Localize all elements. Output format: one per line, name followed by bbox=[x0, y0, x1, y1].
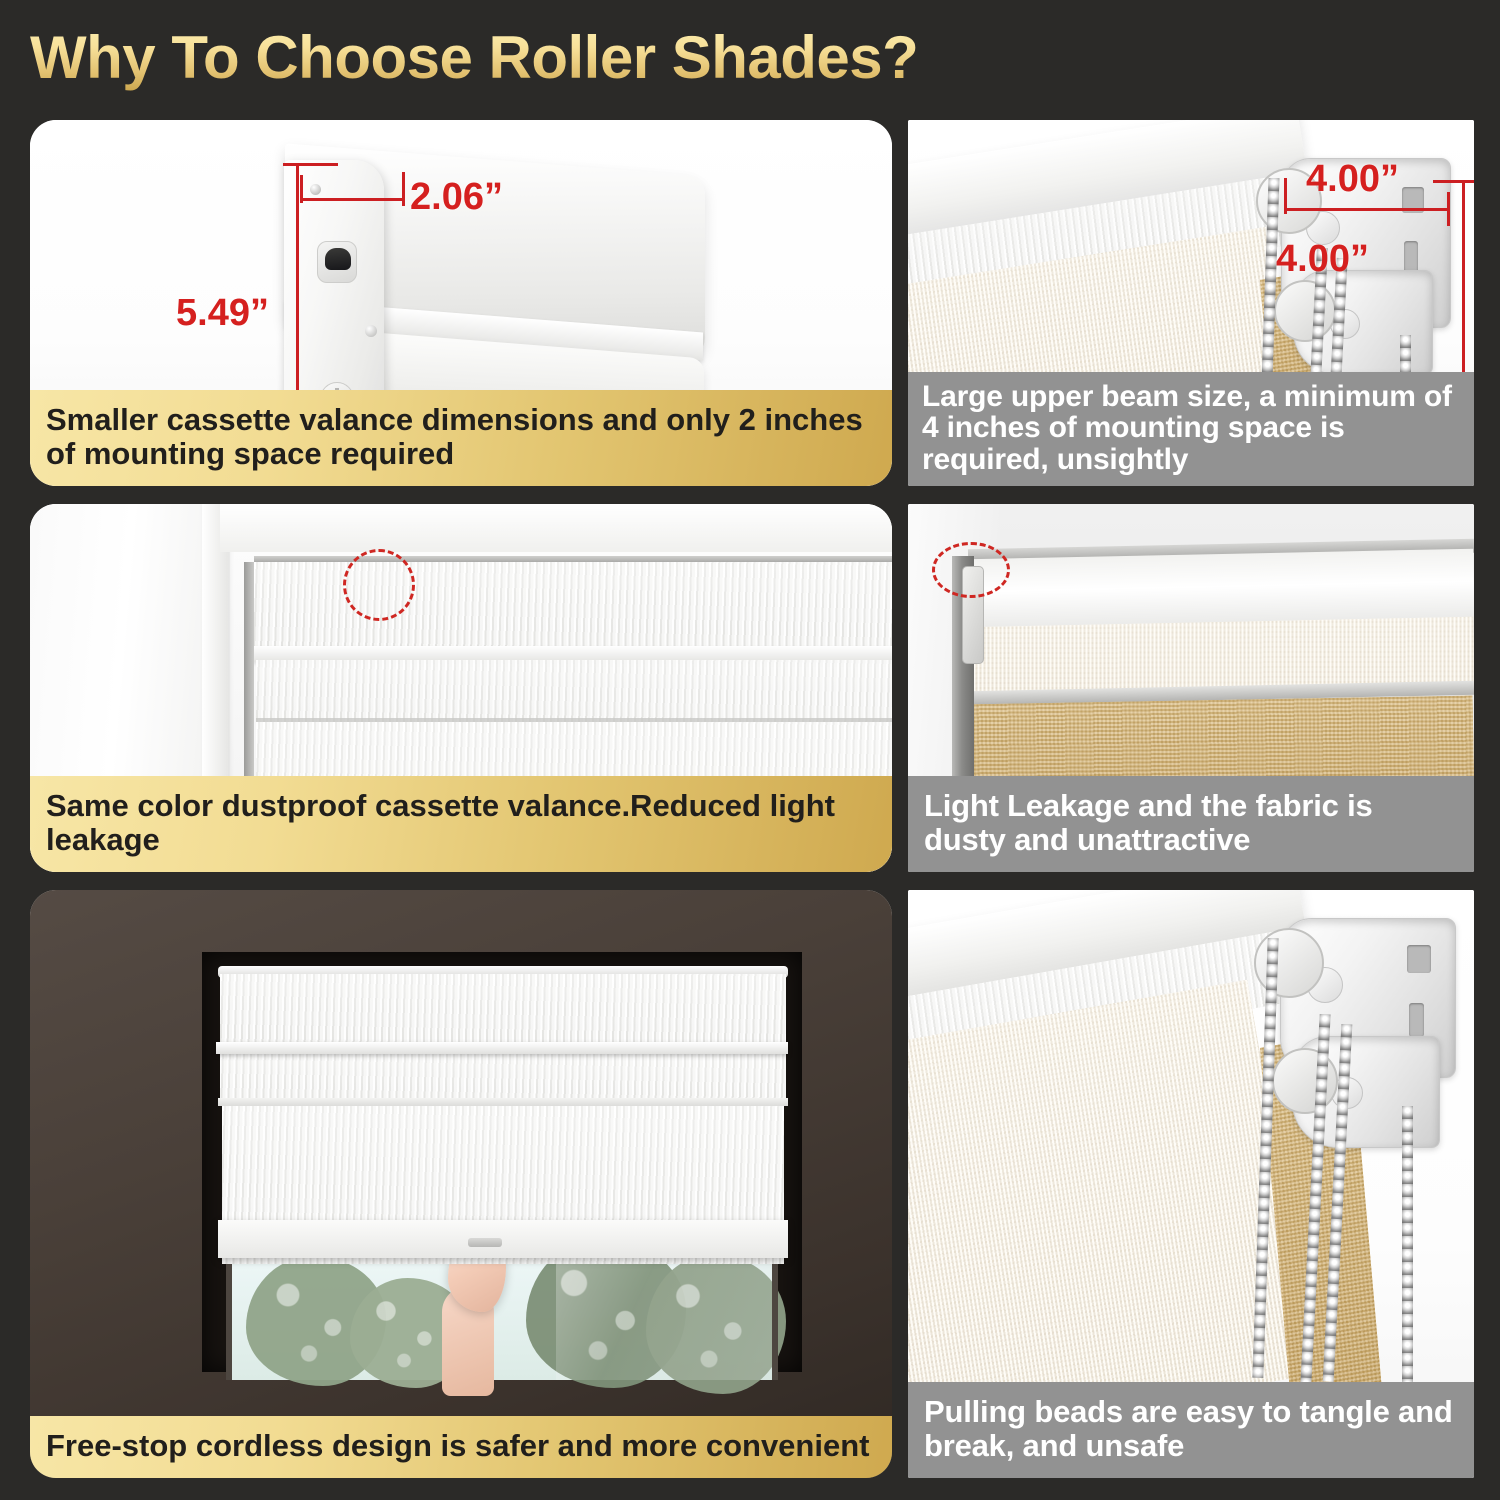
panel-1-caption: Smaller cassette valance dimensions and … bbox=[30, 390, 892, 486]
dim-4-00-v-tick-top bbox=[1433, 180, 1474, 183]
product-photo-smaller-gap: smaller gap Same color dustproof cassett… bbox=[30, 504, 892, 872]
shade-pull-handle bbox=[468, 1238, 502, 1247]
room-valance-lip bbox=[216, 1042, 788, 1054]
panel-cordless-room: Free-stop cordless design is safer and m… bbox=[30, 890, 892, 1478]
room-shade-roll bbox=[220, 1052, 786, 1102]
product-photo-room: Free-stop cordless design is safer and m… bbox=[30, 890, 892, 1478]
gap-highlight-circle bbox=[343, 549, 415, 621]
dim-5-49-tick-top bbox=[283, 163, 338, 166]
panel-pulling-beads: Pulling beads are easy to tangle and bre… bbox=[908, 890, 1474, 1478]
panel-smaller-gap: smaller gap Same color dustproof cassett… bbox=[30, 504, 892, 872]
dim-4-00-h-tick-right bbox=[1447, 192, 1450, 226]
room-valance-face bbox=[220, 974, 786, 1046]
end-cap-clutch-housing bbox=[317, 241, 357, 283]
dim-label-beam-width: 4.00” bbox=[1306, 158, 1399, 201]
panel-large-beam-dimensions: 4.00” 4.00” Large upper beam size, a min… bbox=[908, 120, 1474, 486]
shade-fabric-upper bbox=[256, 660, 892, 726]
panel-2-caption: Large upper beam size, a minimum of 4 in… bbox=[908, 372, 1474, 487]
dim-4-00-h-tick-left bbox=[1284, 178, 1287, 214]
page-title: Why To Choose Roller Shades? bbox=[30, 22, 1130, 94]
panel-large-gap: Large gap Light Leakage and the fabric i… bbox=[908, 504, 1474, 872]
panel-cassette-dimensions: 2.06” 5.49” Smaller cassette valance dim… bbox=[30, 120, 892, 486]
dim-4-00-h-line bbox=[1286, 208, 1450, 211]
panel-5-caption: Free-stop cordless design is safer and m… bbox=[30, 1416, 892, 1478]
beads-tube-cap-upper bbox=[1254, 928, 1324, 998]
dim-label-width: 2.06” bbox=[410, 176, 503, 219]
dim-2-06-tick-left bbox=[300, 175, 303, 203]
clutch-slot bbox=[325, 248, 351, 270]
window-frame-header bbox=[220, 504, 892, 552]
product-photo-large-gap: Large gap Light Leakage and the fabric i… bbox=[908, 504, 1474, 872]
screw-head-top bbox=[310, 184, 321, 195]
tube-end-cap-lower bbox=[1274, 280, 1336, 342]
panel-4-caption: Light Leakage and the fabric is dusty an… bbox=[908, 776, 1474, 872]
dim-4-00-v-line bbox=[1462, 180, 1465, 378]
dim-label-height: 5.49” bbox=[176, 292, 269, 335]
dim-2-06-tick-right bbox=[402, 172, 405, 206]
room-shade-seam bbox=[218, 1098, 788, 1106]
room-shade-bottom-rail bbox=[218, 1220, 788, 1258]
product-photo-cassette: 2.06” 5.49” Smaller cassette valance dim… bbox=[30, 120, 892, 486]
dim-label-beam-height: 4.00” bbox=[1276, 238, 1369, 281]
screw-head bbox=[365, 325, 377, 337]
pull-bead-chain-4[interactable] bbox=[1402, 1106, 1413, 1382]
dim-2-06-line bbox=[302, 198, 405, 201]
gap-highlight-circle-large bbox=[932, 542, 1010, 598]
product-photo-large-beam: 4.00” 4.00” Large upper beam size, a min… bbox=[908, 120, 1474, 486]
panel-6-caption: Pulling beads are easy to tangle and bre… bbox=[908, 1382, 1474, 1478]
panel-3-caption: Same color dustproof cassette valance.Re… bbox=[30, 776, 892, 872]
product-photo-beads: Pulling beads are easy to tangle and bre… bbox=[908, 890, 1474, 1478]
